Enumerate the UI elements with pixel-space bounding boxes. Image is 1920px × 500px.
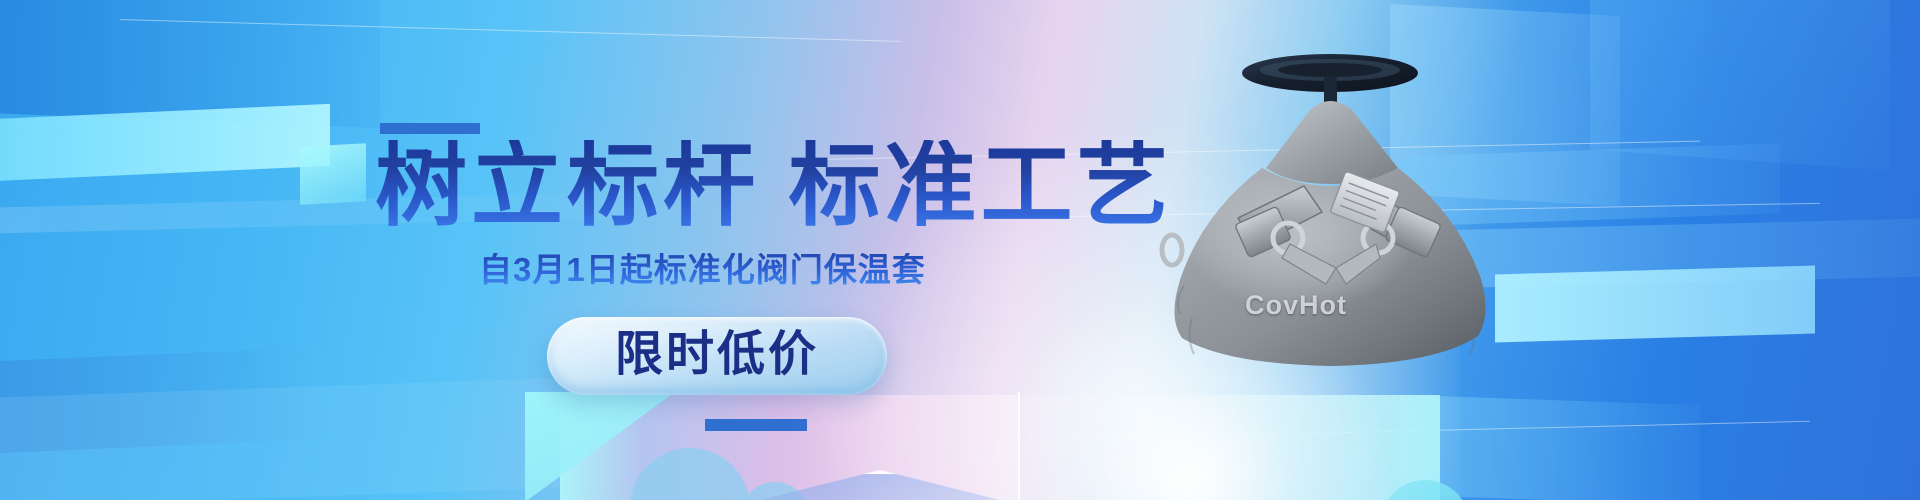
jacket-bonnet [1266,101,1398,184]
valve-handwheel-icon [1242,54,1418,106]
banner-subheadline: 自3月1日起标准化阀门保温套 [479,253,926,286]
banner-content: 树立标杆 标准工艺 自3月1日起标准化阀门保温套 限时低价 [0,0,1150,500]
bg-block-top-right [1590,0,1890,170]
promo-banner: 树立标杆 标准工艺 自3月1日起标准化阀门保温套 限时低价 [0,0,1920,500]
bg-hairline-4 [1050,421,1810,441]
bg-circle-3 [1380,480,1470,500]
bg-streak-right-4 [1495,266,1815,343]
jacket-hanging-loop [1162,235,1182,265]
product-brand-label: CovHot [1245,290,1347,321]
bg-streak-right-5 [1400,395,1700,500]
cta-button-label: 限时低价 [615,331,819,379]
headline-accent-bar [380,123,480,134]
product-image-valve-jacket [1140,18,1520,398]
banner-headline: 树立标杆 标准工艺 [375,140,1173,232]
cta-button[interactable]: 限时低价 [547,317,887,395]
cta-underline-bar [705,419,807,431]
